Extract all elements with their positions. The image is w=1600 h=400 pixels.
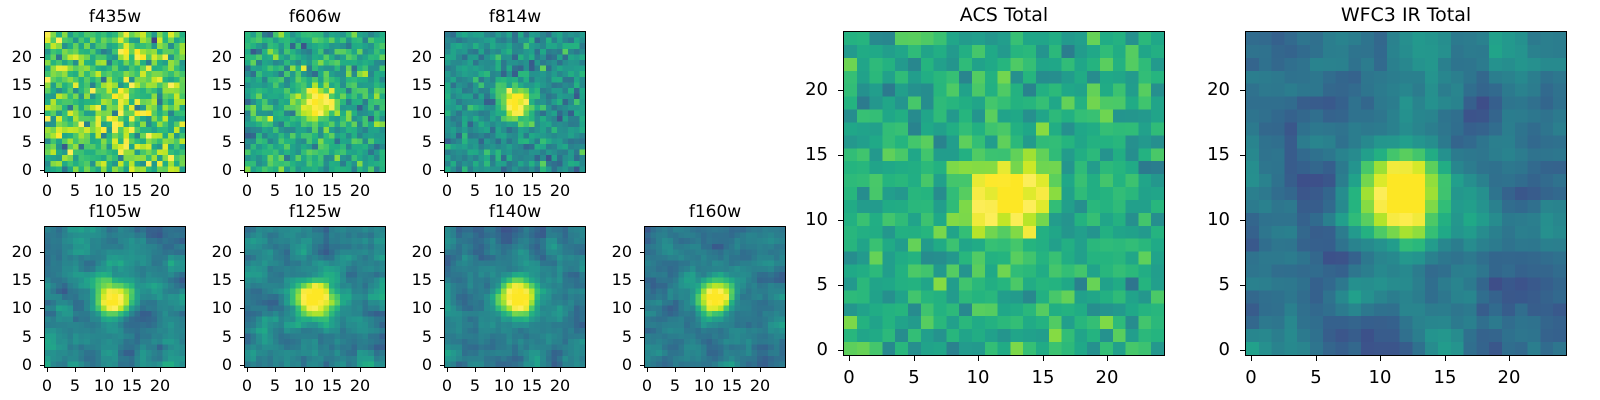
yticklabel-f435w-0: 0	[22, 162, 32, 178]
heatmap-f606w	[244, 31, 386, 173]
xticklabel-f105w-10: 10	[94, 378, 114, 394]
yticklabel-f606w-0: 0	[222, 162, 232, 178]
xtick-f105w-10	[104, 368, 105, 372]
ytick-f105w-0	[40, 365, 44, 366]
xtick-f606w-15	[332, 173, 333, 177]
ytick-f160w-20	[640, 252, 644, 253]
xtick-f140w-5	[475, 368, 476, 372]
xtick-f606w-0	[247, 173, 248, 177]
yticklabel-f140w-20: 20	[412, 244, 432, 260]
yticklabel-f140w-15: 15	[412, 272, 432, 288]
ytick-f606w-5	[240, 142, 244, 143]
xticklabel-wfc3-ir-total-0: 0	[1245, 369, 1256, 387]
xtick-f814w-10	[504, 173, 505, 177]
xtick-f105w-20	[160, 368, 161, 372]
ytick-f125w-15	[240, 280, 244, 281]
ytick-f814w-0	[440, 170, 444, 171]
yticklabel-f606w-20: 20	[212, 49, 232, 65]
ytick-f606w-0	[240, 170, 244, 171]
xtick-f435w-5	[75, 173, 76, 177]
yticklabel-acs-total-10: 10	[805, 211, 828, 229]
ytick-f814w-5	[440, 142, 444, 143]
ytick-f435w-0	[40, 170, 44, 171]
ytick-f140w-20	[440, 252, 444, 253]
ytick-f814w-20	[440, 57, 444, 58]
xticklabel-f140w-15: 15	[522, 378, 542, 394]
yticklabel-acs-total-0: 0	[817, 341, 828, 359]
ytick-f606w-15	[240, 85, 244, 86]
xticklabel-f814w-15: 15	[522, 183, 542, 199]
xtick-wfc3-ir-total-5	[1316, 356, 1317, 361]
xticklabel-f140w-20: 20	[550, 378, 570, 394]
ytick-f140w-0	[440, 365, 444, 366]
xticklabel-f125w-10: 10	[294, 378, 314, 394]
yticklabel-f125w-5: 5	[222, 329, 232, 345]
xtick-f140w-10	[504, 368, 505, 372]
panel-title-wfc3-ir-total: WFC3 IR Total	[1245, 6, 1567, 25]
xticklabel-f160w-5: 5	[670, 378, 680, 394]
yticklabel-f435w-15: 15	[12, 77, 32, 93]
ytick-f606w-20	[240, 57, 244, 58]
ytick-wfc3-ir-total-15	[1240, 155, 1245, 156]
xticklabel-f814w-10: 10	[494, 183, 514, 199]
panel-f435w: f435w0510152005101520	[0, 0, 1600, 400]
xticklabel-f125w-15: 15	[322, 378, 342, 394]
heatmap-f160w	[644, 226, 786, 368]
heatmap-canvas-f814w	[445, 32, 585, 172]
xticklabel-acs-total-20: 20	[1096, 369, 1119, 387]
xtick-f814w-5	[475, 173, 476, 177]
xtick-f160w-15	[732, 368, 733, 372]
xtick-f125w-15	[332, 368, 333, 372]
ytick-acs-total-20	[838, 90, 843, 91]
ytick-f125w-10	[240, 308, 244, 309]
ytick-acs-total-10	[838, 220, 843, 221]
xticklabel-f606w-5: 5	[270, 183, 280, 199]
xtick-f435w-15	[132, 173, 133, 177]
heatmap-canvas-acs-total	[844, 32, 1164, 355]
xticklabel-f435w-5: 5	[70, 183, 80, 199]
xtick-f140w-20	[560, 368, 561, 372]
panel-f606w: f606w0510152005101520	[0, 0, 1600, 400]
xtick-f160w-20	[760, 368, 761, 372]
panel-f160w: f160w0510152005101520	[0, 0, 1600, 400]
xticklabel-acs-total-15: 15	[1032, 369, 1055, 387]
xtick-f140w-0	[447, 368, 448, 372]
yticklabel-f606w-15: 15	[212, 77, 232, 93]
ytick-f160w-10	[640, 308, 644, 309]
heatmap-f125w	[244, 226, 386, 368]
yticklabel-f140w-0: 0	[422, 357, 432, 373]
ytick-f125w-5	[240, 337, 244, 338]
ytick-f435w-15	[40, 85, 44, 86]
ytick-wfc3-ir-total-0	[1240, 350, 1245, 351]
heatmap-canvas-f105w	[45, 227, 185, 367]
yticklabel-f140w-5: 5	[422, 329, 432, 345]
yticklabel-f160w-20: 20	[612, 244, 632, 260]
ytick-f140w-10	[440, 308, 444, 309]
panel-f125w: f125w0510152005101520	[0, 0, 1600, 400]
xtick-acs-total-5	[914, 356, 915, 361]
xtick-f435w-0	[47, 173, 48, 177]
xtick-f105w-0	[47, 368, 48, 372]
yticklabel-acs-total-20: 20	[805, 81, 828, 99]
heatmap-acs-total	[843, 31, 1165, 356]
yticklabel-f160w-0: 0	[622, 357, 632, 373]
xtick-f435w-10	[104, 173, 105, 177]
ytick-acs-total-0	[838, 350, 843, 351]
xticklabel-f125w-0: 0	[242, 378, 252, 394]
yticklabel-f814w-15: 15	[412, 77, 432, 93]
xticklabel-wfc3-ir-total-15: 15	[1434, 369, 1457, 387]
panel-wfc3-ir-total: WFC3 IR Total0510152005101520	[0, 0, 1600, 400]
xticklabel-f435w-15: 15	[122, 183, 142, 199]
xtick-acs-total-20	[1107, 356, 1108, 361]
xticklabel-acs-total-0: 0	[843, 369, 854, 387]
yticklabel-f125w-20: 20	[212, 244, 232, 260]
ytick-f105w-10	[40, 308, 44, 309]
xtick-f105w-5	[75, 368, 76, 372]
xticklabel-f435w-20: 20	[150, 183, 170, 199]
xticklabel-wfc3-ir-total-10: 10	[1369, 369, 1392, 387]
heatmap-canvas-f140w	[445, 227, 585, 367]
xtick-f125w-10	[304, 368, 305, 372]
xtick-f606w-5	[275, 173, 276, 177]
xticklabel-f160w-10: 10	[694, 378, 714, 394]
xtick-f125w-5	[275, 368, 276, 372]
xticklabel-f606w-10: 10	[294, 183, 314, 199]
yticklabel-f125w-0: 0	[222, 357, 232, 373]
ytick-f160w-15	[640, 280, 644, 281]
yticklabel-acs-total-5: 5	[817, 276, 828, 294]
yticklabel-f105w-20: 20	[12, 244, 32, 260]
xtick-f606w-20	[360, 173, 361, 177]
xtick-f125w-0	[247, 368, 248, 372]
ytick-f814w-10	[440, 113, 444, 114]
yticklabel-f160w-5: 5	[622, 329, 632, 345]
yticklabel-wfc3-ir-total-15: 15	[1207, 146, 1230, 164]
xticklabel-f606w-20: 20	[350, 183, 370, 199]
panel-title-f140w: f140w	[444, 204, 586, 221]
panel-f814w: f814w0510152005101520	[0, 0, 1600, 400]
xtick-f814w-15	[532, 173, 533, 177]
xticklabel-f435w-10: 10	[94, 183, 114, 199]
ytick-wfc3-ir-total-10	[1240, 220, 1245, 221]
panel-title-f105w: f105w	[44, 204, 186, 221]
heatmap-f105w	[44, 226, 186, 368]
ytick-f105w-15	[40, 280, 44, 281]
xtick-wfc3-ir-total-15	[1445, 356, 1446, 361]
figure-canvas: f435w0510152005101520f606w05101520051015…	[0, 0, 1600, 400]
xtick-f814w-0	[447, 173, 448, 177]
xtick-acs-total-0	[849, 356, 850, 361]
panel-f105w: f105w0510152005101520	[0, 0, 1600, 400]
yticklabel-wfc3-ir-total-0: 0	[1219, 341, 1230, 359]
yticklabel-f814w-5: 5	[422, 134, 432, 150]
xticklabel-f140w-5: 5	[470, 378, 480, 394]
xticklabel-f125w-20: 20	[350, 378, 370, 394]
xticklabel-f160w-20: 20	[750, 378, 770, 394]
xtick-f160w-10	[704, 368, 705, 372]
xticklabel-f105w-15: 15	[122, 378, 142, 394]
xtick-wfc3-ir-total-10	[1380, 356, 1381, 361]
yticklabel-f160w-15: 15	[612, 272, 632, 288]
ytick-f105w-20	[40, 252, 44, 253]
yticklabel-wfc3-ir-total-5: 5	[1219, 276, 1230, 294]
heatmap-f435w	[44, 31, 186, 173]
yticklabel-wfc3-ir-total-20: 20	[1207, 81, 1230, 99]
ytick-f435w-20	[40, 57, 44, 58]
xticklabel-acs-total-5: 5	[908, 369, 919, 387]
yticklabel-f125w-15: 15	[212, 272, 232, 288]
xticklabel-wfc3-ir-total-20: 20	[1498, 369, 1521, 387]
xticklabel-f160w-15: 15	[722, 378, 742, 394]
panel-title-acs-total: ACS Total	[843, 6, 1165, 25]
yticklabel-f814w-0: 0	[422, 162, 432, 178]
panel-f140w: f140w0510152005101520	[0, 0, 1600, 400]
xtick-f814w-20	[560, 173, 561, 177]
xtick-acs-total-15	[1043, 356, 1044, 361]
yticklabel-f606w-10: 10	[212, 105, 232, 121]
heatmap-f140w	[444, 226, 586, 368]
xtick-f606w-10	[304, 173, 305, 177]
xticklabel-f140w-10: 10	[494, 378, 514, 394]
yticklabel-f105w-15: 15	[12, 272, 32, 288]
heatmap-canvas-f160w	[645, 227, 785, 367]
ytick-wfc3-ir-total-20	[1240, 90, 1245, 91]
panel-title-f125w: f125w	[244, 204, 386, 221]
yticklabel-f435w-20: 20	[12, 49, 32, 65]
xticklabel-wfc3-ir-total-5: 5	[1310, 369, 1321, 387]
xtick-f125w-20	[360, 368, 361, 372]
ytick-f160w-0	[640, 365, 644, 366]
xticklabel-f160w-0: 0	[642, 378, 652, 394]
yticklabel-wfc3-ir-total-10: 10	[1207, 211, 1230, 229]
panel-acs-total: ACS Total0510152005101520	[0, 0, 1600, 400]
panel-title-f814w: f814w	[444, 9, 586, 26]
ytick-acs-total-15	[838, 155, 843, 156]
yticklabel-f814w-10: 10	[412, 105, 432, 121]
yticklabel-f606w-5: 5	[222, 134, 232, 150]
panel-title-f435w: f435w	[44, 9, 186, 26]
heatmap-canvas-f125w	[245, 227, 385, 367]
xticklabel-f606w-0: 0	[242, 183, 252, 199]
xtick-f140w-15	[532, 368, 533, 372]
heatmap-canvas-wfc3-ir-total	[1246, 32, 1566, 355]
yticklabel-f105w-5: 5	[22, 329, 32, 345]
ytick-f125w-0	[240, 365, 244, 366]
ytick-f140w-15	[440, 280, 444, 281]
xtick-f435w-20	[160, 173, 161, 177]
heatmap-wfc3-ir-total	[1245, 31, 1567, 356]
xticklabel-f105w-5: 5	[70, 378, 80, 394]
ytick-f435w-10	[40, 113, 44, 114]
ytick-wfc3-ir-total-5	[1240, 285, 1245, 286]
xticklabel-f814w-0: 0	[442, 183, 452, 199]
xtick-acs-total-10	[978, 356, 979, 361]
heatmap-canvas-f435w	[45, 32, 185, 172]
xticklabel-f435w-0: 0	[42, 183, 52, 199]
heatmap-canvas-f606w	[245, 32, 385, 172]
xticklabel-f105w-0: 0	[42, 378, 52, 394]
xtick-f160w-5	[675, 368, 676, 372]
heatmap-f814w	[444, 31, 586, 173]
xtick-f160w-0	[647, 368, 648, 372]
yticklabel-f435w-10: 10	[12, 105, 32, 121]
ytick-f160w-5	[640, 337, 644, 338]
panel-title-f606w: f606w	[244, 9, 386, 26]
xtick-wfc3-ir-total-0	[1251, 356, 1252, 361]
ytick-acs-total-5	[838, 285, 843, 286]
yticklabel-f160w-10: 10	[612, 300, 632, 316]
ytick-f606w-10	[240, 113, 244, 114]
yticklabel-f814w-20: 20	[412, 49, 432, 65]
xticklabel-acs-total-10: 10	[967, 369, 990, 387]
xticklabel-f606w-15: 15	[322, 183, 342, 199]
ytick-f435w-5	[40, 142, 44, 143]
xtick-wfc3-ir-total-20	[1509, 356, 1510, 361]
xticklabel-f125w-5: 5	[270, 378, 280, 394]
yticklabel-f105w-10: 10	[12, 300, 32, 316]
xticklabel-f105w-20: 20	[150, 378, 170, 394]
ytick-f140w-5	[440, 337, 444, 338]
yticklabel-acs-total-15: 15	[805, 146, 828, 164]
yticklabel-f105w-0: 0	[22, 357, 32, 373]
ytick-f105w-5	[40, 337, 44, 338]
xticklabel-f814w-20: 20	[550, 183, 570, 199]
yticklabel-f435w-5: 5	[22, 134, 32, 150]
ytick-f125w-20	[240, 252, 244, 253]
yticklabel-f125w-10: 10	[212, 300, 232, 316]
xticklabel-f140w-0: 0	[442, 378, 452, 394]
yticklabel-f140w-10: 10	[412, 300, 432, 316]
xtick-f105w-15	[132, 368, 133, 372]
ytick-f814w-15	[440, 85, 444, 86]
panel-title-f160w: f160w	[644, 204, 786, 221]
xticklabel-f814w-5: 5	[470, 183, 480, 199]
